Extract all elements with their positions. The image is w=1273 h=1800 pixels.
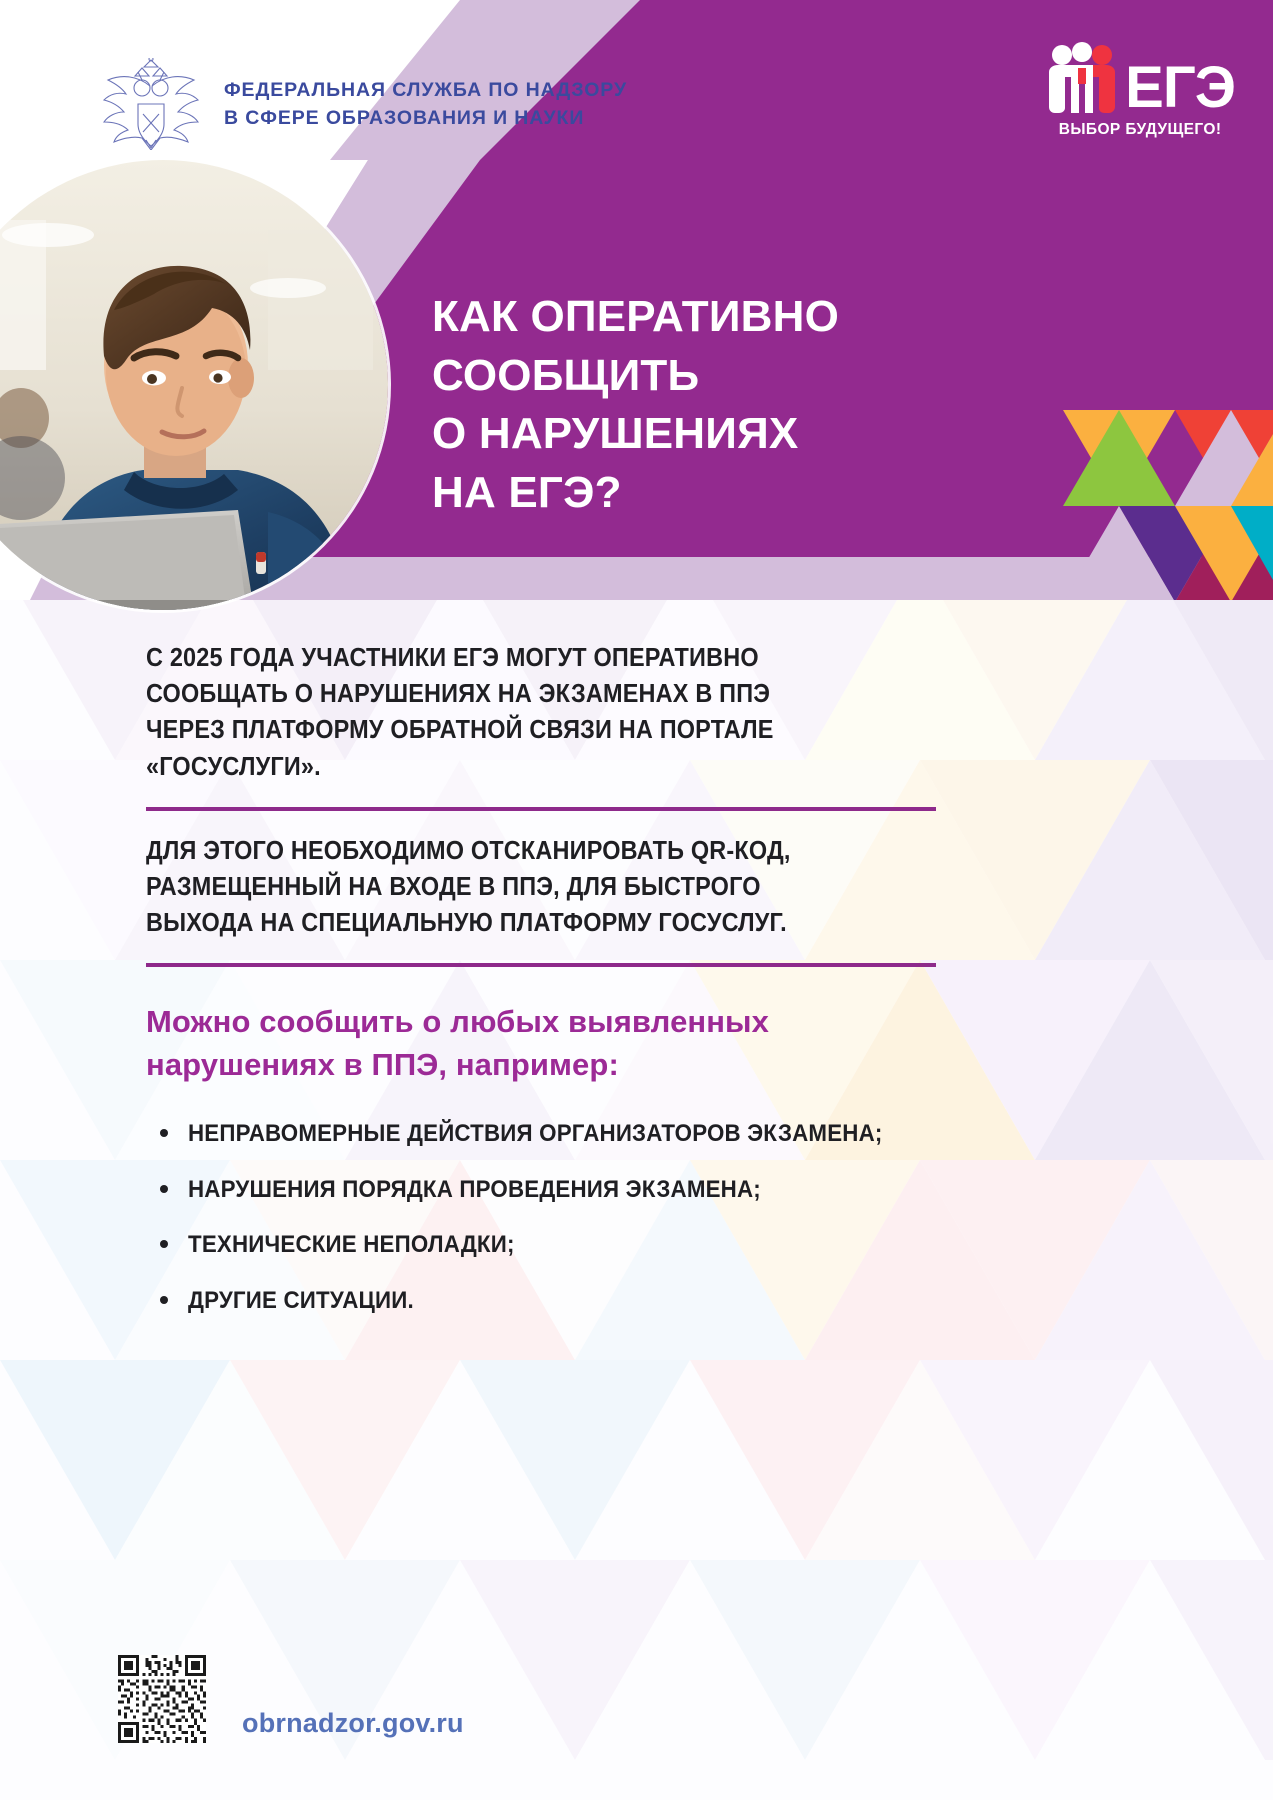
divider-top	[146, 807, 936, 811]
qr-line-1: ДЛЯ ЭТОГО НЕОБХОДИМО ОТСКАНИРОВАТЬ QR-КО…	[146, 833, 873, 869]
title-line-1: КАК ОПЕРАТИВНО	[432, 288, 839, 347]
list-item-label: НАРУШЕНИЯ ПОРЯДКА ПРОВЕДЕНИЯ ЭКЗАМЕНА;	[188, 1173, 921, 1207]
organization-title: ФЕДЕРАЛЬНАЯ СЛУЖБА ПО НАДЗОРУ В СФЕРЕ ОБ…	[224, 76, 627, 133]
org-line-1: ФЕДЕРАЛЬНАЯ СЛУЖБА ПО НАДЗОРУ	[224, 76, 627, 104]
main-content: С 2025 ГОДА УЧАСТНИКИ ЕГЭ МОГУТ ОПЕРАТИВ…	[0, 640, 1273, 1339]
list-item: ДРУГИЕ СИТУАЦИИ.	[146, 1284, 976, 1318]
heading-line-2: нарушениях в ППЭ, например:	[146, 1044, 946, 1087]
ege-wordmark: ЕГЭ	[1125, 61, 1235, 114]
qr-instruction-paragraph: ДЛЯ ЭТОГО НЕОБХОДИМО ОТСКАНИРОВАТЬ QR-КО…	[146, 833, 873, 942]
ege-logo: ЕГЭ ВЫБОР БУДУЩЕГО!	[1045, 42, 1235, 139]
list-item-label: ДРУГИЕ СИТУАЦИИ.	[188, 1284, 921, 1318]
page-title: КАК ОПЕРАТИВНО СООБЩИТЬ О НАРУШЕНИЯХ НА …	[432, 288, 839, 522]
intro-line-1: С 2025 ГОДА УЧАСТНИКИ ЕГЭ МОГУТ ОПЕРАТИВ…	[146, 640, 873, 676]
violations-list: НЕПРАВОМЕРНЫЕ ДЕЙСТВИЯ ОРГАНИЗАТОРОВ ЭКЗ…	[146, 1117, 976, 1317]
list-item: НЕПРАВОМЕРНЫЕ ДЕЙСТВИЯ ОРГАНИЗАТОРОВ ЭКЗ…	[146, 1117, 976, 1151]
footer: obrnadzor.gov.ru	[118, 1655, 464, 1743]
ege-people-mark-icon	[1045, 42, 1119, 114]
qr-line-2: РАЗМЕЩЕННЫЙ НА ВХОДЕ В ППЭ, ДЛЯ БЫСТРОГО	[146, 869, 873, 905]
section-heading: Можно сообщить о любых выявленных наруше…	[146, 1001, 946, 1087]
title-line-3: О НАРУШЕНИЯХ	[432, 405, 839, 464]
intro-paragraph: С 2025 ГОДА УЧАСТНИКИ ЕГЭ МОГУТ ОПЕРАТИВ…	[146, 640, 873, 785]
qr-code-icon[interactable]	[118, 1655, 206, 1743]
website-url[interactable]: obrnadzor.gov.ru	[242, 1708, 464, 1743]
mosaic-triangles	[1063, 410, 1273, 600]
list-item-label: НЕПРАВОМЕРНЫЕ ДЕЙСТВИЯ ОРГАНИЗАТОРОВ ЭКЗ…	[188, 1117, 921, 1151]
poster-root: ФЕДЕРАЛЬНАЯ СЛУЖБА ПО НАДЗОРУ В СФЕРЕ ОБ…	[0, 0, 1273, 1800]
russian-federation-eagle-emblem-icon	[92, 58, 210, 150]
intro-line-3: ЧЕРЕЗ ПЛАТФОРМУ ОБРАТНОЙ СВЯЗИ НА ПОРТАЛ…	[146, 712, 873, 748]
ege-tagline: ВЫБОР БУДУЩЕГО!	[1045, 121, 1235, 139]
qr-line-3: ВЫХОДА НА СПЕЦИАЛЬНУЮ ПЛАТФОРМУ ГОСУСЛУГ…	[146, 905, 873, 941]
list-item: ТЕХНИЧЕСКИЕ НЕПОЛАДКИ;	[146, 1228, 976, 1262]
intro-line-4: «ГОСУСЛУГИ».	[146, 749, 873, 785]
org-line-2: В СФЕРЕ ОБРАЗОВАНИЯ И НАУКИ	[224, 104, 627, 132]
heading-line-1: Можно сообщить о любых выявленных	[146, 1001, 946, 1044]
divider-bottom	[146, 963, 936, 967]
list-item-label: ТЕХНИЧЕСКИЕ НЕПОЛАДКИ;	[188, 1228, 921, 1262]
student-at-laptop-photo	[0, 160, 388, 610]
title-line-4: НА ЕГЭ?	[432, 464, 839, 523]
list-item: НАРУШЕНИЯ ПОРЯДКА ПРОВЕДЕНИЯ ЭКЗАМЕНА;	[146, 1173, 976, 1207]
intro-line-2: СООБЩАТЬ О НАРУШЕНИЯХ НА ЭКЗАМЕНАХ В ППЭ	[146, 676, 873, 712]
title-line-2: СООБЩИТЬ	[432, 347, 839, 406]
